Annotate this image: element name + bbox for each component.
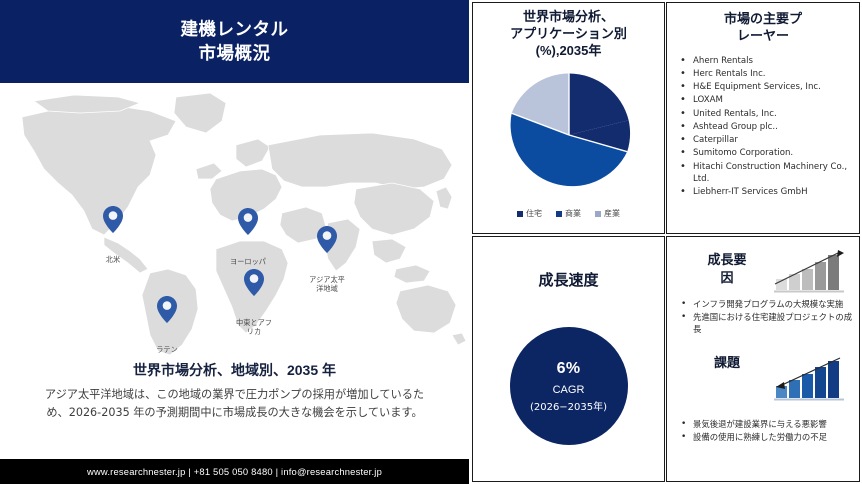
list-item: Ahern Rentals: [691, 55, 851, 68]
challenges-title: 課題: [683, 355, 771, 372]
cagr-value: 6%: [557, 360, 581, 378]
map-caption-body: アジア太平洋地域は、この地域の業界で圧力ポンプの採用が増加しているため、2026…: [36, 386, 433, 422]
list-item: Ashtead Group plc..: [691, 121, 851, 134]
map-pin-icon: [103, 206, 123, 233]
pie-title-line2: アプリケーション別: [485, 26, 652, 43]
legend-label-industrial: 産業: [604, 208, 620, 219]
list-item: Liebherr-IT Services GmbH: [691, 186, 851, 199]
growth-factors-title: 成長要 因: [683, 251, 771, 286]
players-title-line2: レーヤー: [689, 28, 837, 45]
world-map-svg: [0, 83, 469, 355]
list-item: インフラ開発プログラムの大規模な実施: [693, 299, 855, 311]
map-pin-icon: [244, 269, 264, 296]
growth-rate-panel: 成長速度 6% CAGR (2026−2035年): [472, 236, 665, 482]
legend-label-residential: 住宅: [526, 208, 542, 219]
map-marker-label-north-america: 北米: [85, 255, 141, 264]
players-title-line1: 市場の主要プ: [689, 11, 837, 28]
cagr-circle: 6% CAGR (2026−2035年): [510, 327, 628, 445]
cagr-label: CAGR: [553, 384, 585, 396]
list-item: United Rentals, Inc.: [691, 108, 851, 121]
list-item: Herc Rentals Inc.: [691, 68, 851, 81]
map-pin-icon: [238, 208, 258, 235]
key-players-panel: 市場の主要プ レーヤー Ahern Rentals Herc Rentals I…: [666, 2, 860, 234]
pie-panel-title: 世界市場分析、 アプリケーション別 (%),2035年: [473, 9, 664, 60]
infographic-page: 建機レンタル 市場概況: [0, 0, 862, 484]
application-share-panel: 世界市場分析、 アプリケーション別 (%),2035年: [472, 2, 665, 234]
header-band: 建機レンタル 市場概況: [0, 0, 469, 83]
left-column: 建機レンタル 市場概況: [0, 0, 469, 484]
map-pin-icon: [157, 296, 177, 323]
footer-contact-text: www.researchnester.jp | +81 505 050 8480…: [87, 466, 382, 477]
list-item: Sumitomo Corporation.: [691, 147, 851, 160]
list-item: Hitachi Construction Machinery Co., Ltd.: [691, 161, 851, 186]
pie-chart-svg: [505, 71, 633, 199]
legend-swatch-icon: [556, 211, 562, 217]
growth-factors-title-line2: 因: [683, 269, 771, 287]
challenges-list: 景気後退が建設業界に与える悪影響 設備の使用に熟練した労働力の不足: [693, 419, 855, 445]
challenges-trend-chart-icon: [772, 355, 850, 403]
legend-swatch-icon: [595, 211, 601, 217]
growth-factors-title-line1: 成長要: [683, 251, 771, 269]
growth-panel-title: 成長速度: [473, 271, 664, 291]
map-marker-label-middle-east-africa: 中東とアフ リカ: [226, 318, 282, 336]
legend-item-residential: 住宅: [517, 208, 542, 219]
pie-chart: [505, 71, 633, 204]
map-caption-title: 世界市場分析、地域別、2035 年: [0, 360, 469, 380]
list-item: Caterpillar: [691, 134, 851, 147]
pie-title-line3: (%),2035年: [485, 43, 652, 60]
page-title-line2: 市場概況: [181, 42, 289, 66]
legend-item-commercial: 商業: [556, 208, 581, 219]
pie-legend: 住宅 商業 産業: [473, 208, 664, 219]
growth-factors-list: インフラ開発プログラムの大規模な実施 先進国における住宅建設プロジェクトの成長: [693, 299, 855, 337]
players-panel-title: 市場の主要プ レーヤー: [667, 11, 859, 45]
cagr-period: (2026−2035年): [530, 398, 607, 413]
legend-item-industrial: 産業: [595, 208, 620, 219]
list-item: 景気後退が建設業界に与える悪影響: [693, 419, 855, 431]
list-item: LOXAM: [691, 94, 851, 107]
footer-bar: www.researchnester.jp | +81 505 050 8480…: [0, 459, 469, 484]
growth-trend-chart-icon: [772, 247, 850, 295]
pie-title-line1: 世界市場分析、: [485, 9, 652, 26]
list-item: 設備の使用に熟練した労働力の不足: [693, 432, 855, 444]
page-title-line1: 建機レンタル: [181, 18, 289, 42]
legend-swatch-icon: [517, 211, 523, 217]
map-marker-label-europe: ヨーロッパ: [220, 257, 276, 266]
map-marker-label-asia-pacific: アジア太平 洋地域: [299, 275, 355, 293]
legend-label-commercial: 商業: [565, 208, 581, 219]
list-item: H&E Equipment Services, Inc.: [691, 81, 851, 94]
key-players-list: Ahern Rentals Herc Rentals Inc. H&E Equi…: [667, 55, 859, 199]
growth-factors-challenges-panel: 成長要 因 インフラ開発プログラムの大規模な実施 先進国における住宅建設プロジェ…: [666, 236, 860, 482]
list-item: 先進国における住宅建設プロジェクトの成長: [693, 312, 855, 336]
page-title: 建機レンタル 市場概況: [181, 18, 289, 65]
map-marker-label-latin-america: ラテン アメリ カ: [139, 345, 195, 355]
world-map: 北米 ヨーロッパ アジア太平 洋地域: [0, 83, 469, 355]
map-pin-icon: [317, 226, 337, 253]
